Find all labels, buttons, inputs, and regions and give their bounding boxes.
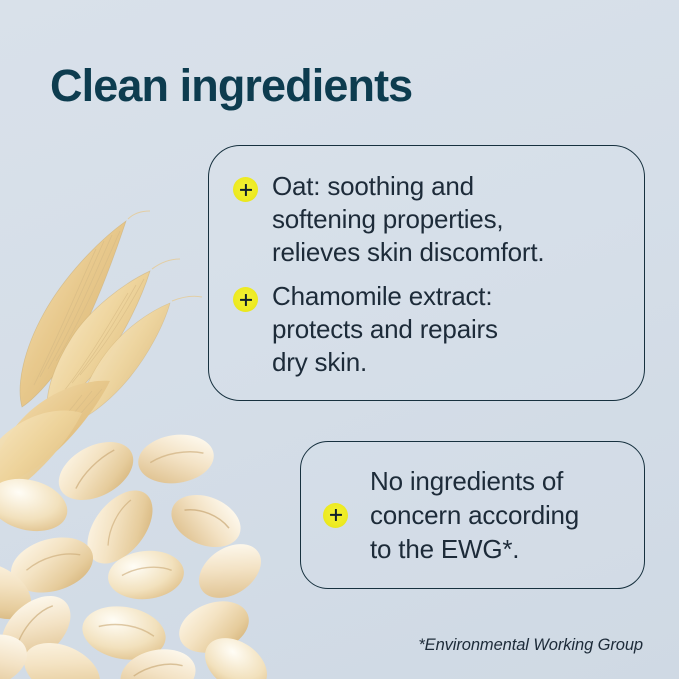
plus-badge-icon <box>233 287 258 312</box>
list-item: Chamomile extract: protects and repairs … <box>233 280 498 379</box>
plus-badge-icon <box>323 503 348 528</box>
list-item-label: Chamomile extract: protects and repairs … <box>272 280 498 379</box>
ewg-card: No ingredients of concern according to t… <box>300 441 645 589</box>
plus-badge-icon <box>233 177 258 202</box>
footnote: *Environmental Working Group <box>418 636 643 655</box>
page-title: Clean ingredients <box>50 58 412 114</box>
list-item: No ingredients of concern according to t… <box>323 442 579 588</box>
list-item: Oat: soothing and softening properties, … <box>233 170 544 269</box>
list-item-label: Oat: soothing and softening properties, … <box>272 170 544 269</box>
ingredient-panel: Clean ingredients Oat: soothing and soft… <box>0 0 679 679</box>
ingredients-card: Oat: soothing and softening properties, … <box>208 145 645 401</box>
ewg-card-label: No ingredients of concern according to t… <box>370 464 579 566</box>
